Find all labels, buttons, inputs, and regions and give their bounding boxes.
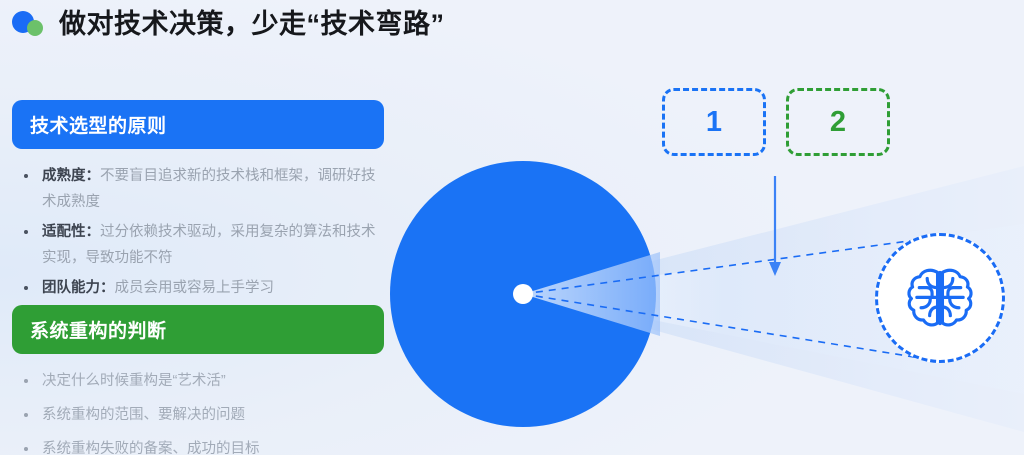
list-item: 决定什么时候重构是“艺术活”: [22, 368, 384, 394]
slide-header: 做对技术决策，少走“技术弯路”: [12, 2, 445, 46]
slide-canvas: 做对技术决策，少走“技术弯路” 技术选型的原则 成熟度：不要盲目追求新的技术栈和…: [0, 0, 1024, 455]
brain-icon: [901, 259, 979, 337]
bullet-term: 团队能力：: [42, 280, 115, 296]
list-item: 团队能力：成员会用或容易上手学习: [22, 275, 384, 301]
list-item: 适配性：过分依赖技术驱动，采用复杂的算法和技术实现，导致功能不符: [22, 219, 384, 271]
bullet-list-tech-selection: 成熟度：不要盲目追求新的技术栈和框架，调研好技术成熟度 适配性：过分依赖技术驱动…: [12, 163, 384, 301]
bullet-text: 系统重构失败的备案、成功的目标: [42, 441, 260, 455]
bullet-term: 适配性：: [42, 224, 100, 240]
brain-target-circle: [875, 233, 1005, 363]
bullet-text: 系统重构的范围、要解决的问题: [42, 407, 245, 423]
section-bar-system-refactor: 系统重构的判断: [12, 305, 384, 354]
list-item: 系统重构的范围、要解决的问题: [22, 402, 384, 428]
list-item: 系统重构失败的备案、成功的目标: [22, 436, 384, 455]
step-box-2: 2: [786, 88, 890, 156]
brand-dot-green: [27, 20, 43, 36]
step-box-1: 1: [662, 88, 766, 156]
left-content-column: 技术选型的原则 成熟度：不要盲目追求新的技术栈和框架，调研好技术成熟度 适配性：…: [12, 100, 384, 455]
white-focus-dot: [513, 284, 533, 304]
bullet-text: 决定什么时候重构是“艺术活”: [42, 373, 226, 389]
section-bar-tech-selection: 技术选型的原则: [12, 100, 384, 149]
list-item: 成熟度：不要盲目追求新的技术栈和框架，调研好技术成熟度: [22, 163, 384, 215]
bullet-term: 成熟度：: [42, 168, 100, 184]
brand-dots-icon: [12, 8, 46, 40]
bullet-text: 成员会用或容易上手学习: [115, 280, 275, 296]
bullet-list-system-refactor: 决定什么时候重构是“艺术活” 系统重构的范围、要解决的问题 系统重构失败的备案、…: [12, 368, 384, 455]
page-title: 做对技术决策，少走“技术弯路”: [59, 11, 445, 38]
